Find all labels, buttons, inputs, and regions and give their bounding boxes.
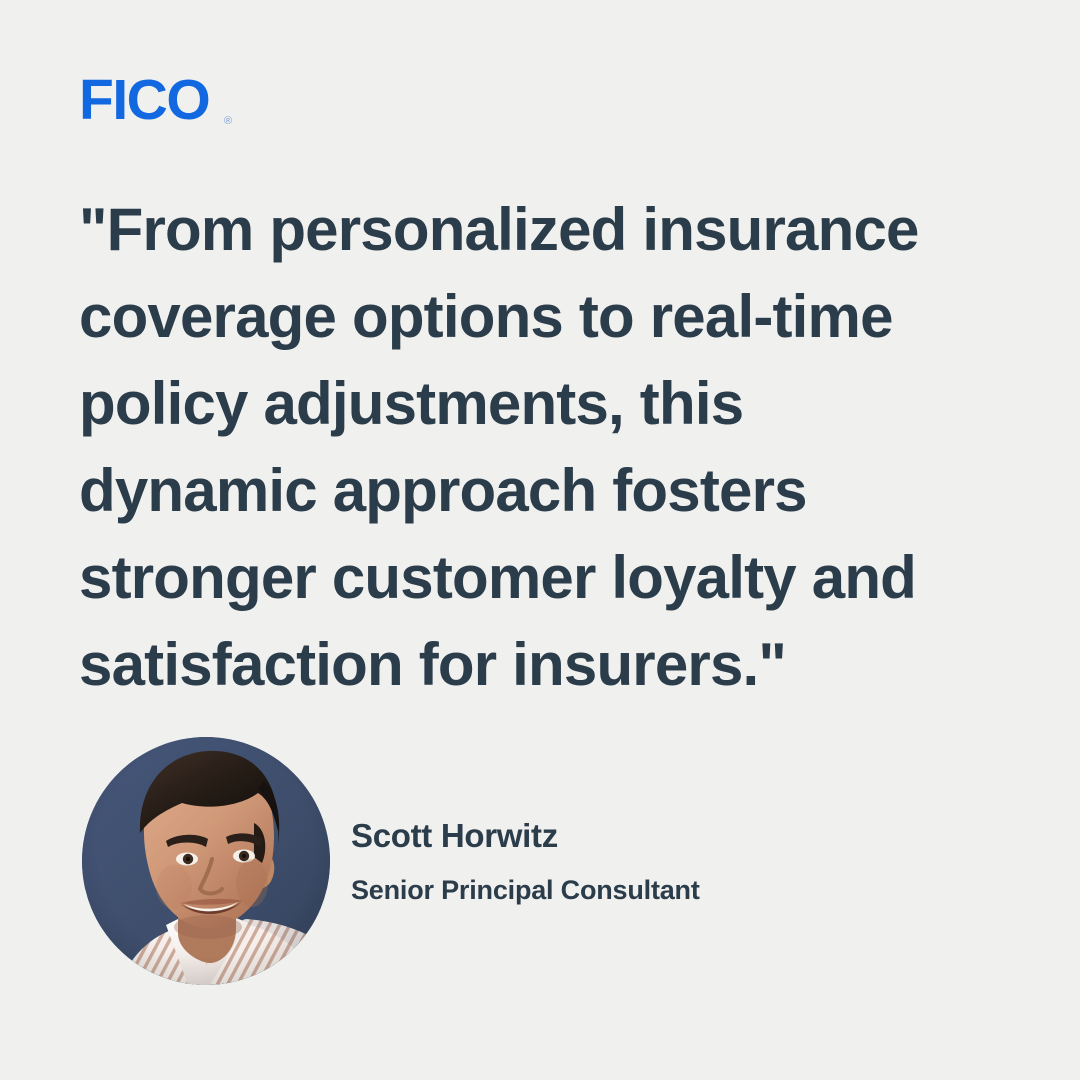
attribution-block: Scott Horwitz Senior Principal Consultan… [82,736,782,986]
fico-logo: FICO ® [79,74,239,130]
quote-card: FICO ® "From personalized insurance cove… [0,0,1080,1080]
avatar [82,737,330,985]
quote-text: "From personalized insurance coverage op… [79,186,979,708]
person-title: Senior Principal Consultant [351,873,700,907]
fico-logo-wordmark: FICO [79,74,209,130]
registered-trademark-icon: ® [224,115,232,127]
person-name: Scott Horwitz [351,816,700,856]
person-portrait-icon [82,737,330,985]
person-details: Scott Horwitz Senior Principal Consultan… [351,816,700,907]
